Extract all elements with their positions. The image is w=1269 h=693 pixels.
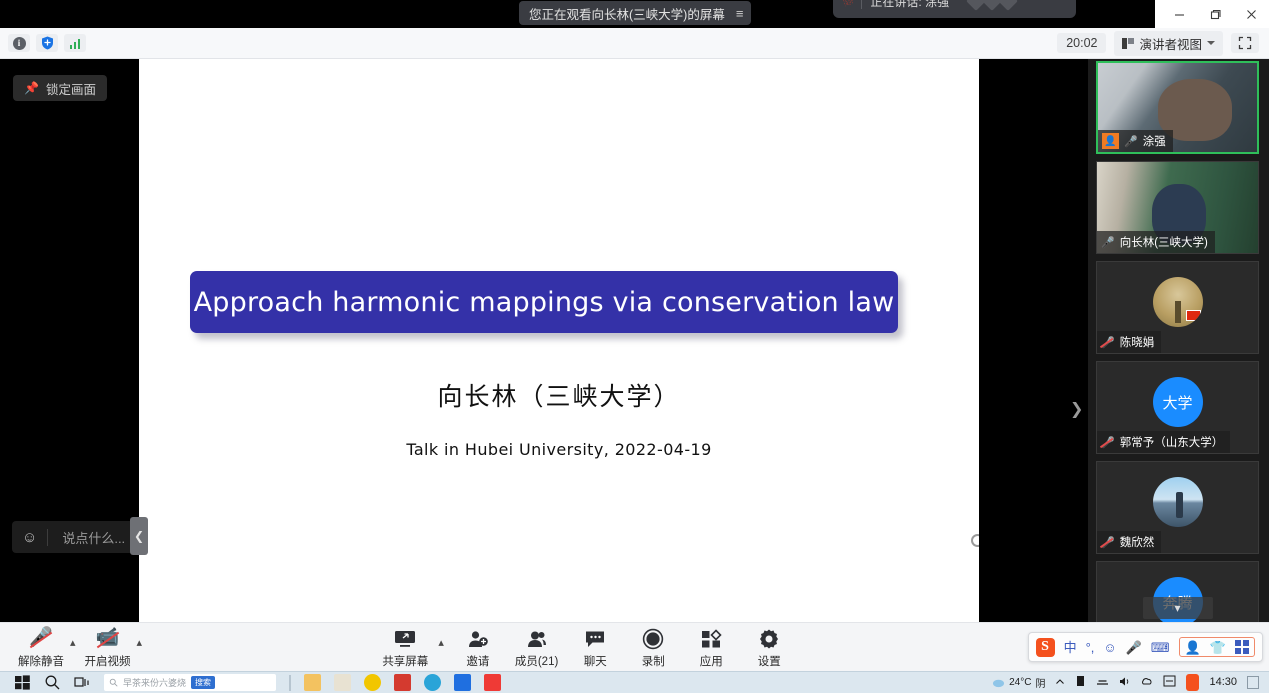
weather-temperature: 24°C <box>1009 677 1031 688</box>
emoji-smile-icon[interactable]: ☺ <box>1103 641 1116 654</box>
mic-muted-icon: 🎤 <box>1101 436 1115 449</box>
share-screen-label: 共享屏幕 <box>382 653 428 669</box>
beamer-navigation-bar <box>239 615 919 622</box>
weather-condition: 阴 <box>1035 675 1045 690</box>
wps-icon[interactable] <box>394 674 411 691</box>
meeting-actions: 共享屏幕 ▴ 邀请 <box>145 626 1028 669</box>
chevron-down-icon <box>1207 41 1215 45</box>
invite-button[interactable]: 邀请 <box>451 626 505 669</box>
participant-tile[interactable]: 大学 🎤 郭常予（山东大学） <box>1096 361 1259 454</box>
avatar <box>1153 277 1203 327</box>
video-options-chevron-up-icon[interactable]: ▴ <box>137 629 146 669</box>
participant-name: 向长林(三峡大学) <box>1120 234 1208 250</box>
zoom-meeting-window: ⛆ 正在讲话: 涂强 您正在观看向长林(三峡大学)的屏幕 ≡ i <box>0 0 1269 693</box>
meeting-control-bar: 🎤 解除静音 ▴ 📹 开启视频 ▴ 共享屏幕 <box>0 622 1269 671</box>
lock-screen-label: 锁定画面 <box>46 79 96 98</box>
mic-muted-icon: 🎤 <box>29 628 53 651</box>
meeting-view-controls: 20:02 演讲者视图 <box>1057 31 1269 56</box>
invite-person-icon <box>467 628 489 651</box>
meeting-status-icons: i <box>0 34 86 52</box>
participant-name: 涂强 <box>1143 133 1166 149</box>
camera-off-icon: 📹 <box>96 628 120 651</box>
sogou-logo-icon[interactable]: S <box>1036 638 1055 657</box>
chrome-icon[interactable] <box>364 674 381 691</box>
microphone-icon[interactable]: 🎤 <box>1126 641 1142 654</box>
taskbar-search-badge[interactable]: 搜索 <box>191 676 215 689</box>
taskbar-clock[interactable]: 14:30 <box>1209 677 1237 689</box>
participant-label: 🎤 郭常予（山东大学） <box>1097 431 1230 453</box>
unmute-label: 解除静音 <box>18 653 64 669</box>
ime-icon[interactable] <box>1163 674 1176 691</box>
apps-label: 应用 <box>700 653 723 669</box>
participant-tile[interactable]: 👤 🎤 涂强 <box>1096 61 1259 154</box>
weather-widget[interactable]: 24°C 阴 <box>992 675 1045 690</box>
close-icon[interactable] <box>1233 0 1269 28</box>
edge-icon[interactable] <box>424 674 441 691</box>
ime-toolbar-region: S 中 °, ☺ 🎤 ⌨ 👤 👕 <box>1028 632 1269 662</box>
host-person-icon: 👤 <box>1102 133 1119 149</box>
account-card-icon[interactable]: 👤 <box>1185 641 1201 654</box>
taskbar-search-box[interactable]: 早茶来份六婆烧 搜索 <box>104 674 276 691</box>
slide-title-text: Approach harmonic mappings via conservat… <box>194 287 895 318</box>
emoji-smile-icon[interactable]: ☺ <box>12 529 47 546</box>
taskbar-tray: 24°C 阴 14:30 <box>992 674 1269 691</box>
taskbar-left: 早茶来份六婆烧 搜索 <box>0 674 501 691</box>
ime-punctuation-toggle[interactable]: °, <box>1086 641 1095 654</box>
unmute-button[interactable]: 🎤 解除静音 <box>12 626 70 669</box>
battery-icon[interactable] <box>1075 674 1086 691</box>
presentation-slide: Approach harmonic mappings via conservat… <box>139 59 979 622</box>
divider <box>861 0 862 9</box>
next-page-arrow[interactable]: ❯ <box>1070 399 1083 419</box>
share-screen-button[interactable]: 共享屏幕 <box>376 626 434 669</box>
pin-icon: 📌 <box>24 81 39 95</box>
share-screen-icon <box>394 628 416 651</box>
participant-name: 陈晓娟 <box>1120 334 1155 350</box>
mic-muted-icon: 🎤 <box>1101 536 1115 549</box>
chat-input-placeholder[interactable]: 说点什么... <box>48 528 139 547</box>
participants-icon <box>526 628 548 651</box>
app-red-icon[interactable] <box>484 674 501 691</box>
mic-muted-icon: 🎤 <box>1101 336 1115 349</box>
sogou-ime-toolbar[interactable]: S 中 °, ☺ 🎤 ⌨ 👤 👕 <box>1028 632 1263 662</box>
active-speaker-label: 正在讲话: 涂强 <box>870 0 949 10</box>
arrow-up-icon[interactable] <box>1055 674 1065 691</box>
flag-badge-icon <box>1186 310 1201 321</box>
screen-share-notice[interactable]: 您正在观看向长林(三峡大学)的屏幕 ≡ <box>519 1 751 25</box>
taskbar-search-placeholder: 早茶来份六婆烧 <box>123 676 186 689</box>
network-signal-icon[interactable] <box>64 34 86 52</box>
network-icon[interactable] <box>1096 674 1109 691</box>
divider <box>289 675 291 691</box>
meeting-info-icon[interactable]: i <box>8 34 30 52</box>
file-explorer-icon[interactable] <box>304 674 321 691</box>
participants-button[interactable]: 成员(21) <box>509 626 564 669</box>
chat-button[interactable]: 聊天 <box>568 626 622 669</box>
record-circle-icon <box>642 628 664 651</box>
skin-shirt-icon[interactable]: 👕 <box>1210 641 1226 654</box>
hamburger-options-icon[interactable]: ≡ <box>733 5 746 22</box>
fullscreen-button[interactable] <box>1231 33 1259 53</box>
participant-filmstrip[interactable]: 👤 🎤 涂强 🎤 向长林(三峡大学) 🎤 陈晓娟 <box>1088 59 1269 622</box>
minimize-icon[interactable] <box>1161 0 1197 28</box>
volume-icon[interactable] <box>1119 674 1131 691</box>
sogou-icon[interactable] <box>1186 674 1199 691</box>
participant-tile[interactable]: 🎤 陈晓娟 <box>1096 261 1259 354</box>
meeting-stage: 📌 锁定画面 Approach harmonic mappings via co… <box>0 59 1269 622</box>
participant-name: 魏欣然 <box>1120 534 1155 550</box>
screen-share-notice-label: 您正在观看向长林(三峡大学)的屏幕 <box>529 4 725 23</box>
record-label: 录制 <box>642 653 665 669</box>
start-video-button[interactable]: 📹 开启视频 <box>79 626 137 669</box>
presenter-view-icon <box>1122 38 1134 49</box>
mic-on-icon: 🎤 <box>1101 236 1115 249</box>
participant-tile[interactable]: 🎤 魏欣然 <box>1096 461 1259 554</box>
participant-tile[interactable]: 🎤 向长林(三峡大学) <box>1096 161 1259 254</box>
shared-screen-viewport[interactable]: Approach harmonic mappings via conservat… <box>139 59 979 622</box>
record-button[interactable]: 录制 <box>626 626 680 669</box>
audio-wave-icon <box>969 0 1015 8</box>
start-video-label: 开启视频 <box>85 653 131 669</box>
meeting-top-toolbar: i 20:02 演讲者视图 <box>0 28 1269 59</box>
chat-label: 聊天 <box>584 653 607 669</box>
lock-screen-pill[interactable]: 📌 锁定画面 <box>13 75 107 101</box>
av-controls: 🎤 解除静音 ▴ 📹 开启视频 ▴ <box>0 626 145 669</box>
slide-subtitle: Talk in Hubei University, 2022-04-19 <box>139 440 979 459</box>
encryption-shield-icon[interactable] <box>36 34 58 52</box>
app-blue-icon[interactable] <box>454 674 471 691</box>
settings-label: 设置 <box>758 653 781 669</box>
participant-name: 郭常予（山东大学） <box>1120 434 1224 450</box>
notepad-icon[interactable] <box>334 674 351 691</box>
invite-label: 邀请 <box>466 653 489 669</box>
meeting-elapsed-time: 20:02 <box>1057 33 1106 53</box>
apps-button[interactable]: 应用 <box>684 626 738 669</box>
gear-icon <box>758 628 780 651</box>
share-options-chevron-up-icon[interactable]: ▴ <box>438 629 447 669</box>
participants-label: 成员(21) <box>515 653 558 669</box>
ime-highlight-group: 👤 👕 <box>1179 637 1255 657</box>
windows-start-icon[interactable] <box>14 674 31 691</box>
mic-on-icon: 🎤 <box>1124 135 1138 148</box>
avatar: 大学 <box>1153 377 1203 427</box>
participant-label: 🎤 魏欣然 <box>1097 531 1161 553</box>
show-desktop-icon[interactable] <box>1247 676 1259 689</box>
participant-label: 🎤 向长林(三峡大学) <box>1097 231 1215 253</box>
chat-bubble-icon <box>584 628 606 651</box>
toolbox-grid-icon[interactable] <box>1235 640 1249 654</box>
participant-label: 👤 🎤 涂强 <box>1098 130 1173 152</box>
chevron-down-icon[interactable]: ▾ <box>1142 597 1212 619</box>
participant-label: 🎤 陈晓娟 <box>1097 331 1161 353</box>
view-mode-label: 演讲者视图 <box>1139 34 1202 53</box>
slide-title-banner: Approach harmonic mappings via conservat… <box>190 271 898 333</box>
window-caption-buttons <box>1155 0 1269 28</box>
avatar <box>1153 477 1203 527</box>
chat-input-pill[interactable]: ☺ 说点什么... <box>12 521 139 553</box>
slide-author: 向长林（三峡大学） <box>139 377 979 413</box>
remote-cursor <box>971 534 979 547</box>
view-mode-selector[interactable]: 演讲者视图 <box>1114 31 1223 56</box>
windows-taskbar: 早茶来份六婆烧 搜索 24°C 阴 <box>0 671 1269 693</box>
active-speaker-float-bar[interactable]: ⛆ 正在讲话: 涂强 <box>833 0 1076 18</box>
cloud-icon[interactable] <box>1141 674 1153 691</box>
restore-icon[interactable] <box>1197 0 1233 28</box>
ime-mode-toggle[interactable]: 中 <box>1064 641 1077 654</box>
participant-tile[interactable]: 奔腾 ▾ <box>1096 561 1259 622</box>
soft-keyboard-icon[interactable]: ⌨ <box>1151 641 1170 654</box>
audio-options-chevron-up-icon[interactable]: ▴ <box>70 629 79 669</box>
search-icon[interactable] <box>44 674 61 691</box>
settings-button[interactable]: 设置 <box>742 626 796 669</box>
speaking-icon: ⛆ <box>841 0 856 10</box>
apps-grid-icon <box>700 628 722 651</box>
task-view-icon[interactable] <box>74 674 91 691</box>
chat-collapse-handle[interactable]: ❮ <box>130 517 148 555</box>
avatar-initials: 大学 <box>1162 392 1192 413</box>
